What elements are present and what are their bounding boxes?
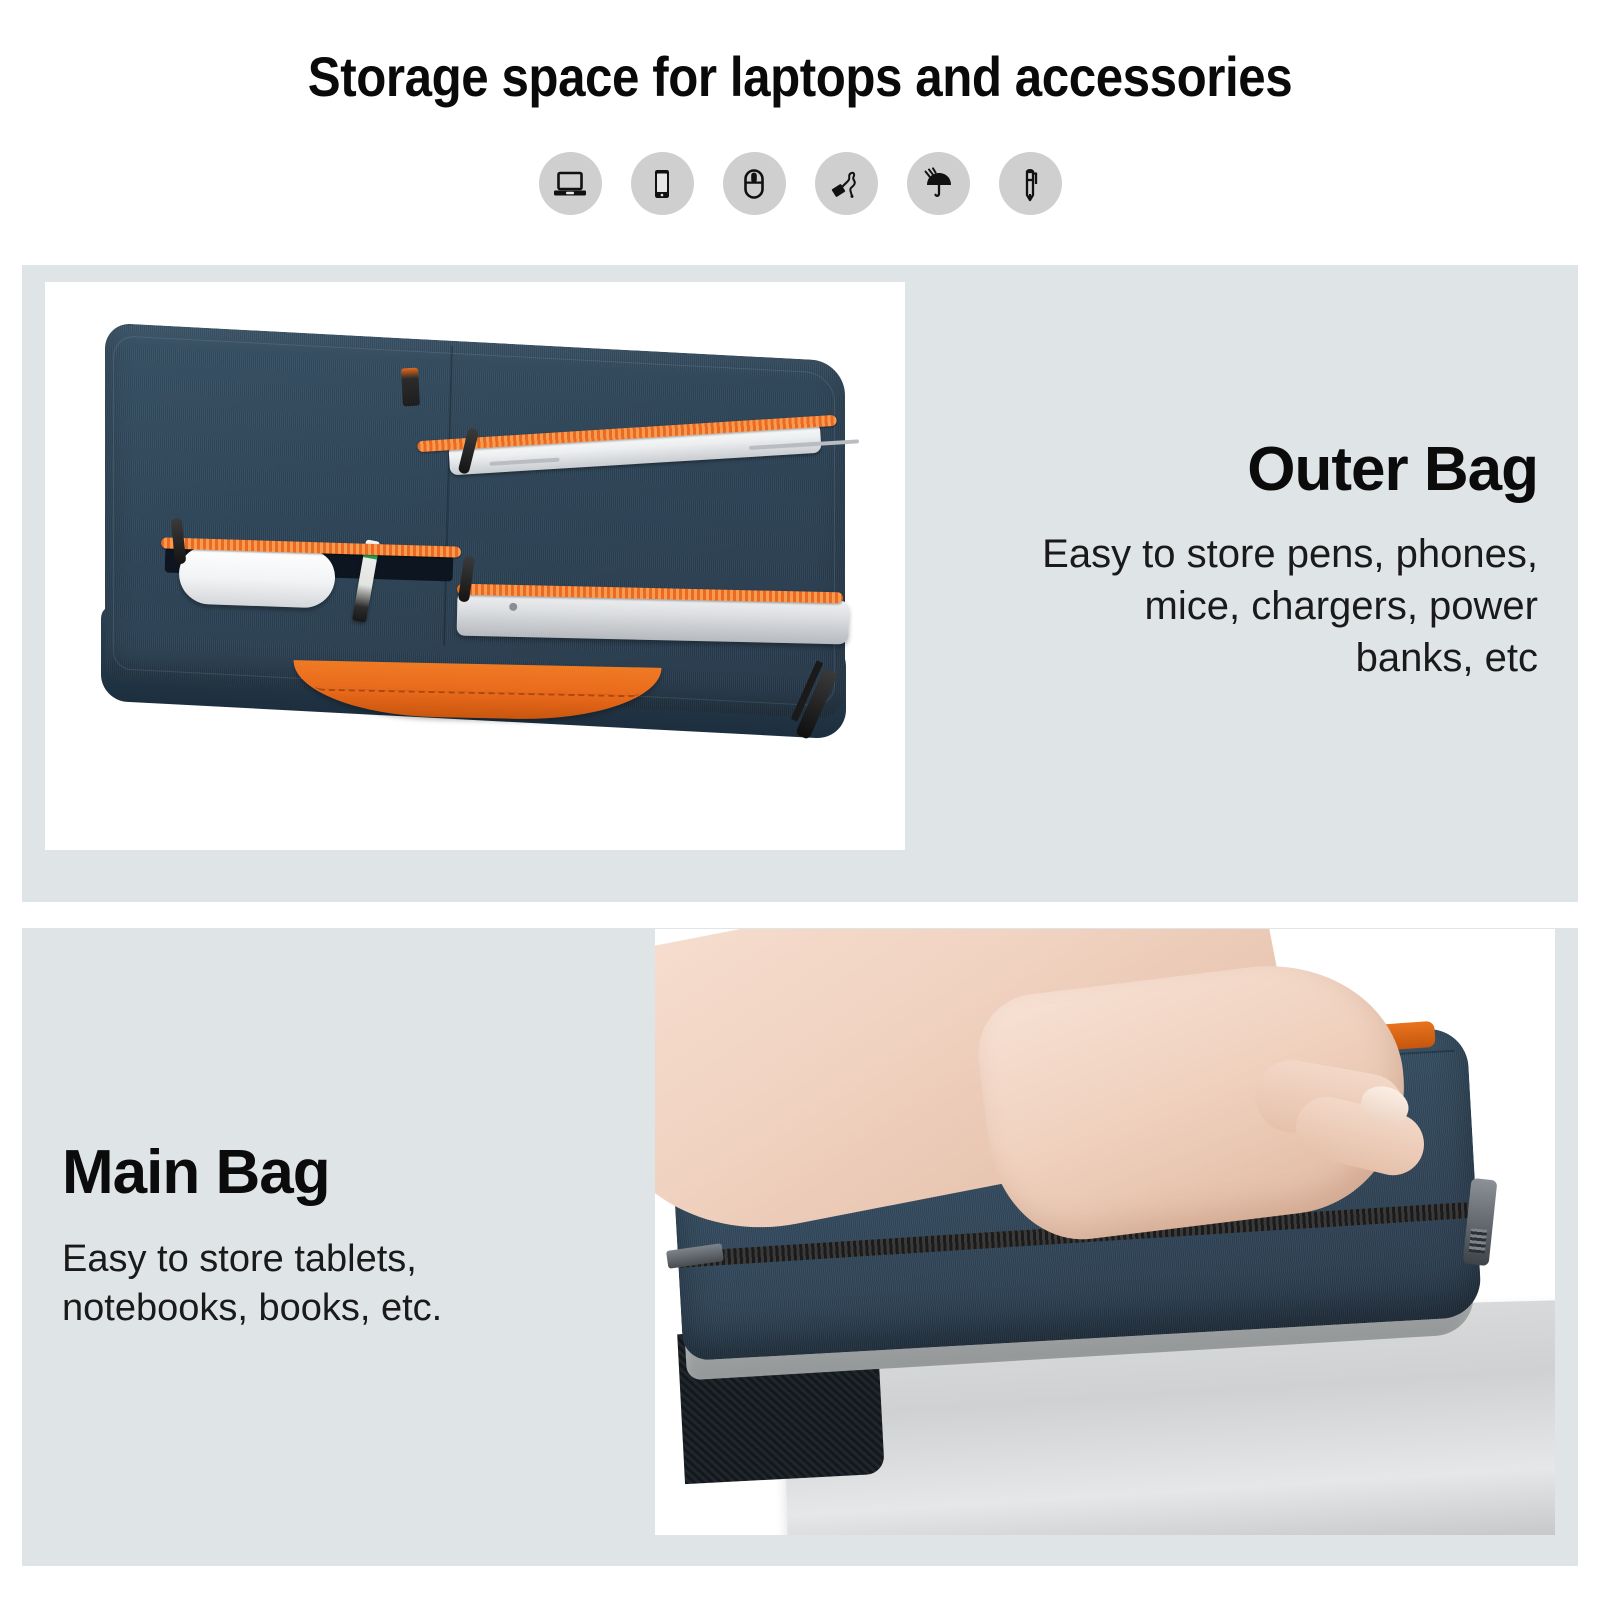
outer-bag-description: Easy to store pens, phones, mice, charge… xyxy=(858,528,1538,684)
charger-icon xyxy=(815,152,878,215)
phone-icon xyxy=(631,152,694,215)
sleeve-body xyxy=(105,323,845,720)
mouse-in-pocket xyxy=(178,545,336,608)
brand-tag xyxy=(401,368,420,407)
outer-bag-panel: Outer Bag Easy to store pens, phones, mi… xyxy=(22,265,1578,902)
main-bag-description-line-1: Easy to store tablets, xyxy=(62,1235,682,1284)
sleeve-open-illustration xyxy=(655,929,1555,1535)
outer-bag-heading: Outer Bag xyxy=(858,437,1538,502)
outer-bag-copy: Outer Bag Easy to store pens, phones, mi… xyxy=(858,437,1538,684)
infographic-page: Storage space for laptops and accessorie… xyxy=(0,0,1600,1600)
main-bag-photo xyxy=(655,929,1555,1535)
outer-bag-description-line-3: banks, etc xyxy=(858,632,1538,684)
outer-bag-photo xyxy=(45,282,905,850)
pen-icon xyxy=(999,152,1062,215)
outer-bag-description-line-1: Easy to store pens, phones, xyxy=(858,528,1538,580)
feature-icon-row xyxy=(0,152,1600,215)
mouse-icon xyxy=(723,152,786,215)
main-bag-heading: Main Bag xyxy=(62,1140,682,1205)
main-bag-panel: Main Bag Easy to store tablets, notebook… xyxy=(22,928,1578,1566)
main-bag-description: Easy to store tablets, notebooks, books,… xyxy=(62,1235,682,1334)
umbrella-icon xyxy=(907,152,970,215)
outer-bag-description-line-2: mice, chargers, power xyxy=(858,580,1538,632)
main-bag-description-line-2: notebooks, books, etc. xyxy=(62,1284,682,1333)
page-title: Storage space for laptops and accessorie… xyxy=(96,44,1504,109)
sleeve-flat-illustration xyxy=(57,342,857,762)
laptop-icon xyxy=(539,152,602,215)
main-bag-copy: Main Bag Easy to store tablets, notebook… xyxy=(62,1140,682,1334)
